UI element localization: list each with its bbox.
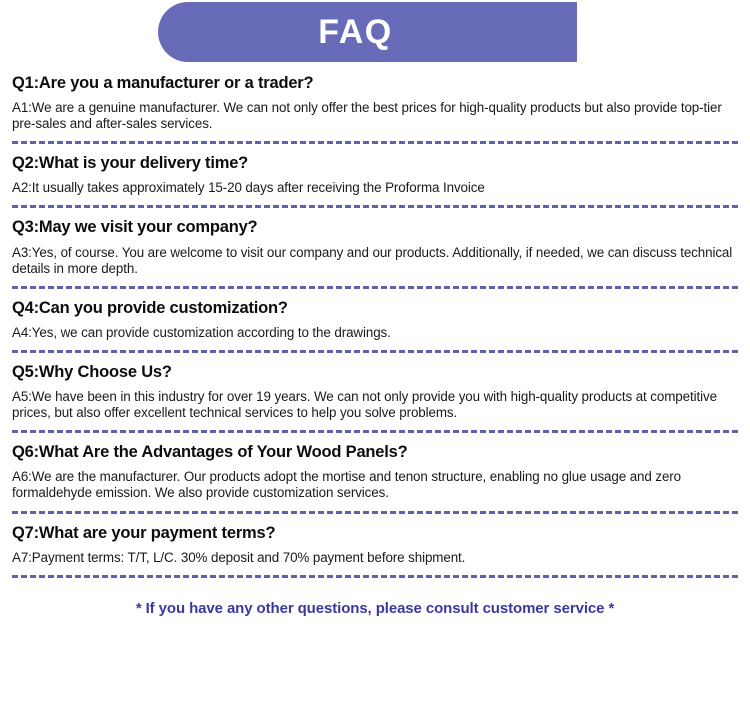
faq-item: Q1:Are you a manufacturer or a trader? A… <box>12 64 738 144</box>
faq-item: Q3:May we visit your company? A3:Yes, of… <box>12 208 738 288</box>
faq-answer: A6:We are the manufacturer. Our products… <box>12 469 734 501</box>
faq-question: Q6:What Are the Advantages of Your Wood … <box>12 442 738 462</box>
faq-item: Q4:Can you provide customization? A4:Yes… <box>12 289 738 353</box>
faq-answer: A2:It usually takes approximately 15-20 … <box>12 180 734 196</box>
faq-answer: A7:Payment terms: T/T, L/C. 30% deposit … <box>12 550 734 566</box>
faq-question: Q7:What are your payment terms? <box>12 523 738 543</box>
faq-question: Q3:May we visit your company? <box>12 217 738 237</box>
faq-footer-note: * If you have any other questions, pleas… <box>0 578 750 617</box>
faq-answer: A5:We have been in this industry for ove… <box>12 389 734 421</box>
faq-list: Q1:Are you a manufacturer or a trader? A… <box>0 64 750 578</box>
faq-answer: A4:Yes, we can provide customization acc… <box>12 325 734 341</box>
faq-item: Q2:What is your delivery time? A2:It usu… <box>12 144 738 208</box>
faq-banner-row: FAQ <box>0 0 750 64</box>
faq-page: FAQ Q1:Are you a manufacturer or a trade… <box>0 0 750 721</box>
faq-item: Q5:Why Choose Us? A5:We have been in thi… <box>12 353 738 433</box>
faq-item: Q7:What are your payment terms? A7:Payme… <box>12 514 738 578</box>
faq-item: Q6:What Are the Advantages of Your Wood … <box>12 433 738 513</box>
faq-question: Q1:Are you a manufacturer or a trader? <box>12 73 738 93</box>
faq-banner: FAQ <box>158 2 577 62</box>
faq-question: Q5:Why Choose Us? <box>12 362 738 382</box>
faq-question: Q4:Can you provide customization? <box>12 298 738 318</box>
faq-answer: A1:We are a genuine manufacturer. We can… <box>12 100 734 132</box>
faq-banner-title: FAQ <box>318 15 392 49</box>
faq-answer: A3:Yes, of course. You are welcome to vi… <box>12 245 734 277</box>
faq-question: Q2:What is your delivery time? <box>12 153 738 173</box>
